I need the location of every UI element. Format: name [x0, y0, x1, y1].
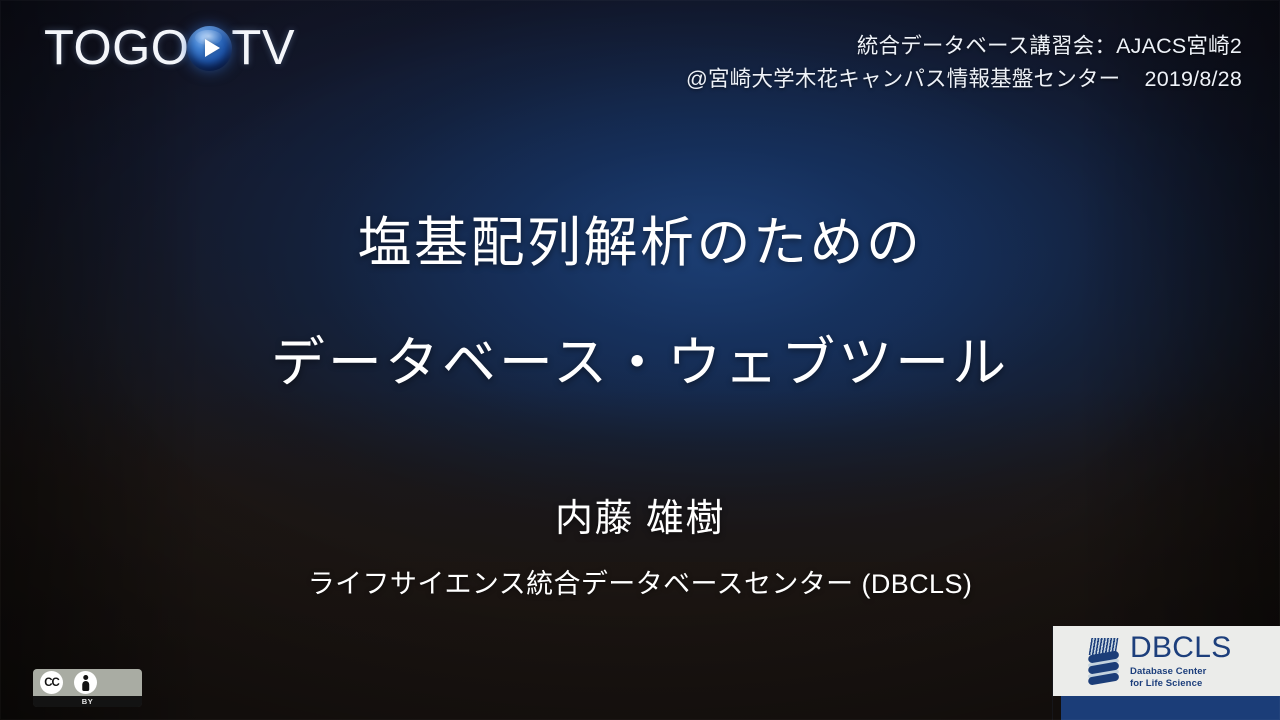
dbcls-tagline: Database Center for Life Science — [1130, 666, 1232, 689]
event-header: 統合データベース講習会：AJACS宮崎2 @宮崎大学木花キャンパス情報基盤センタ… — [686, 30, 1242, 96]
dbcls-tagline-line1: Database Center — [1130, 666, 1206, 677]
presentation-slide: TOGO TV 統合データベース講習会：AJACS宮崎2 @宮崎大学木花キャンパ… — [0, 0, 1280, 720]
dbcls-logo: DBCLS Database Center for Life Science — [1053, 626, 1280, 696]
event-header-line2: @宮崎大学木花キャンパス情報基盤センター 2019/8/28 — [686, 63, 1242, 96]
author-affiliation: ライフサイエンス統合データベースセンター (DBCLS) — [0, 567, 1280, 601]
person-icon — [74, 671, 97, 694]
page-title-line1: 塩基配列解析のための — [0, 212, 1280, 274]
event-date: 2019/8/28 — [1145, 67, 1242, 91]
play-triangle-icon — [205, 39, 220, 57]
event-header-line1: 統合データベース講習会：AJACS宮崎2 — [686, 30, 1242, 63]
play-circle-icon — [187, 26, 232, 71]
slide-title: 塩基配列解析のための データベース・ウェブツール — [0, 212, 1280, 394]
author-name: 内藤 雄樹 — [0, 495, 1280, 543]
dbcls-tagline-line2: for Life Science — [1130, 678, 1202, 689]
event-venue: @宮崎大学木花キャンパス情報基盤センター — [686, 67, 1120, 91]
creative-commons-icon: CC — [40, 671, 63, 694]
dbcls-logo-panel: DBCLS Database Center for Life Science — [1052, 626, 1280, 720]
dbcls-logo-text: DBCLS Database Center for Life Science — [1130, 633, 1232, 689]
dbcls-name: DBCLS — [1130, 633, 1232, 663]
dbcls-panel-band — [1061, 696, 1280, 720]
cc-badge-label: BY — [33, 696, 142, 707]
togotv-logo: TOGO TV — [44, 22, 295, 74]
attribution-person-icon — [74, 671, 97, 694]
togotv-logo-word-right: TV — [231, 24, 295, 73]
creative-commons-by-badge: CC BY — [33, 669, 142, 707]
dna-ladder-icon — [1086, 636, 1121, 686]
cc-badge-icons: CC — [33, 669, 142, 696]
page-title-line2: データベース・ウェブツール — [0, 332, 1280, 394]
author-block: 内藤 雄樹 ライフサイエンス統合データベースセンター (DBCLS) — [0, 495, 1280, 601]
togotv-logo-word-left: TOGO — [44, 24, 189, 73]
cc-badge-cc-text: CC — [44, 677, 59, 689]
